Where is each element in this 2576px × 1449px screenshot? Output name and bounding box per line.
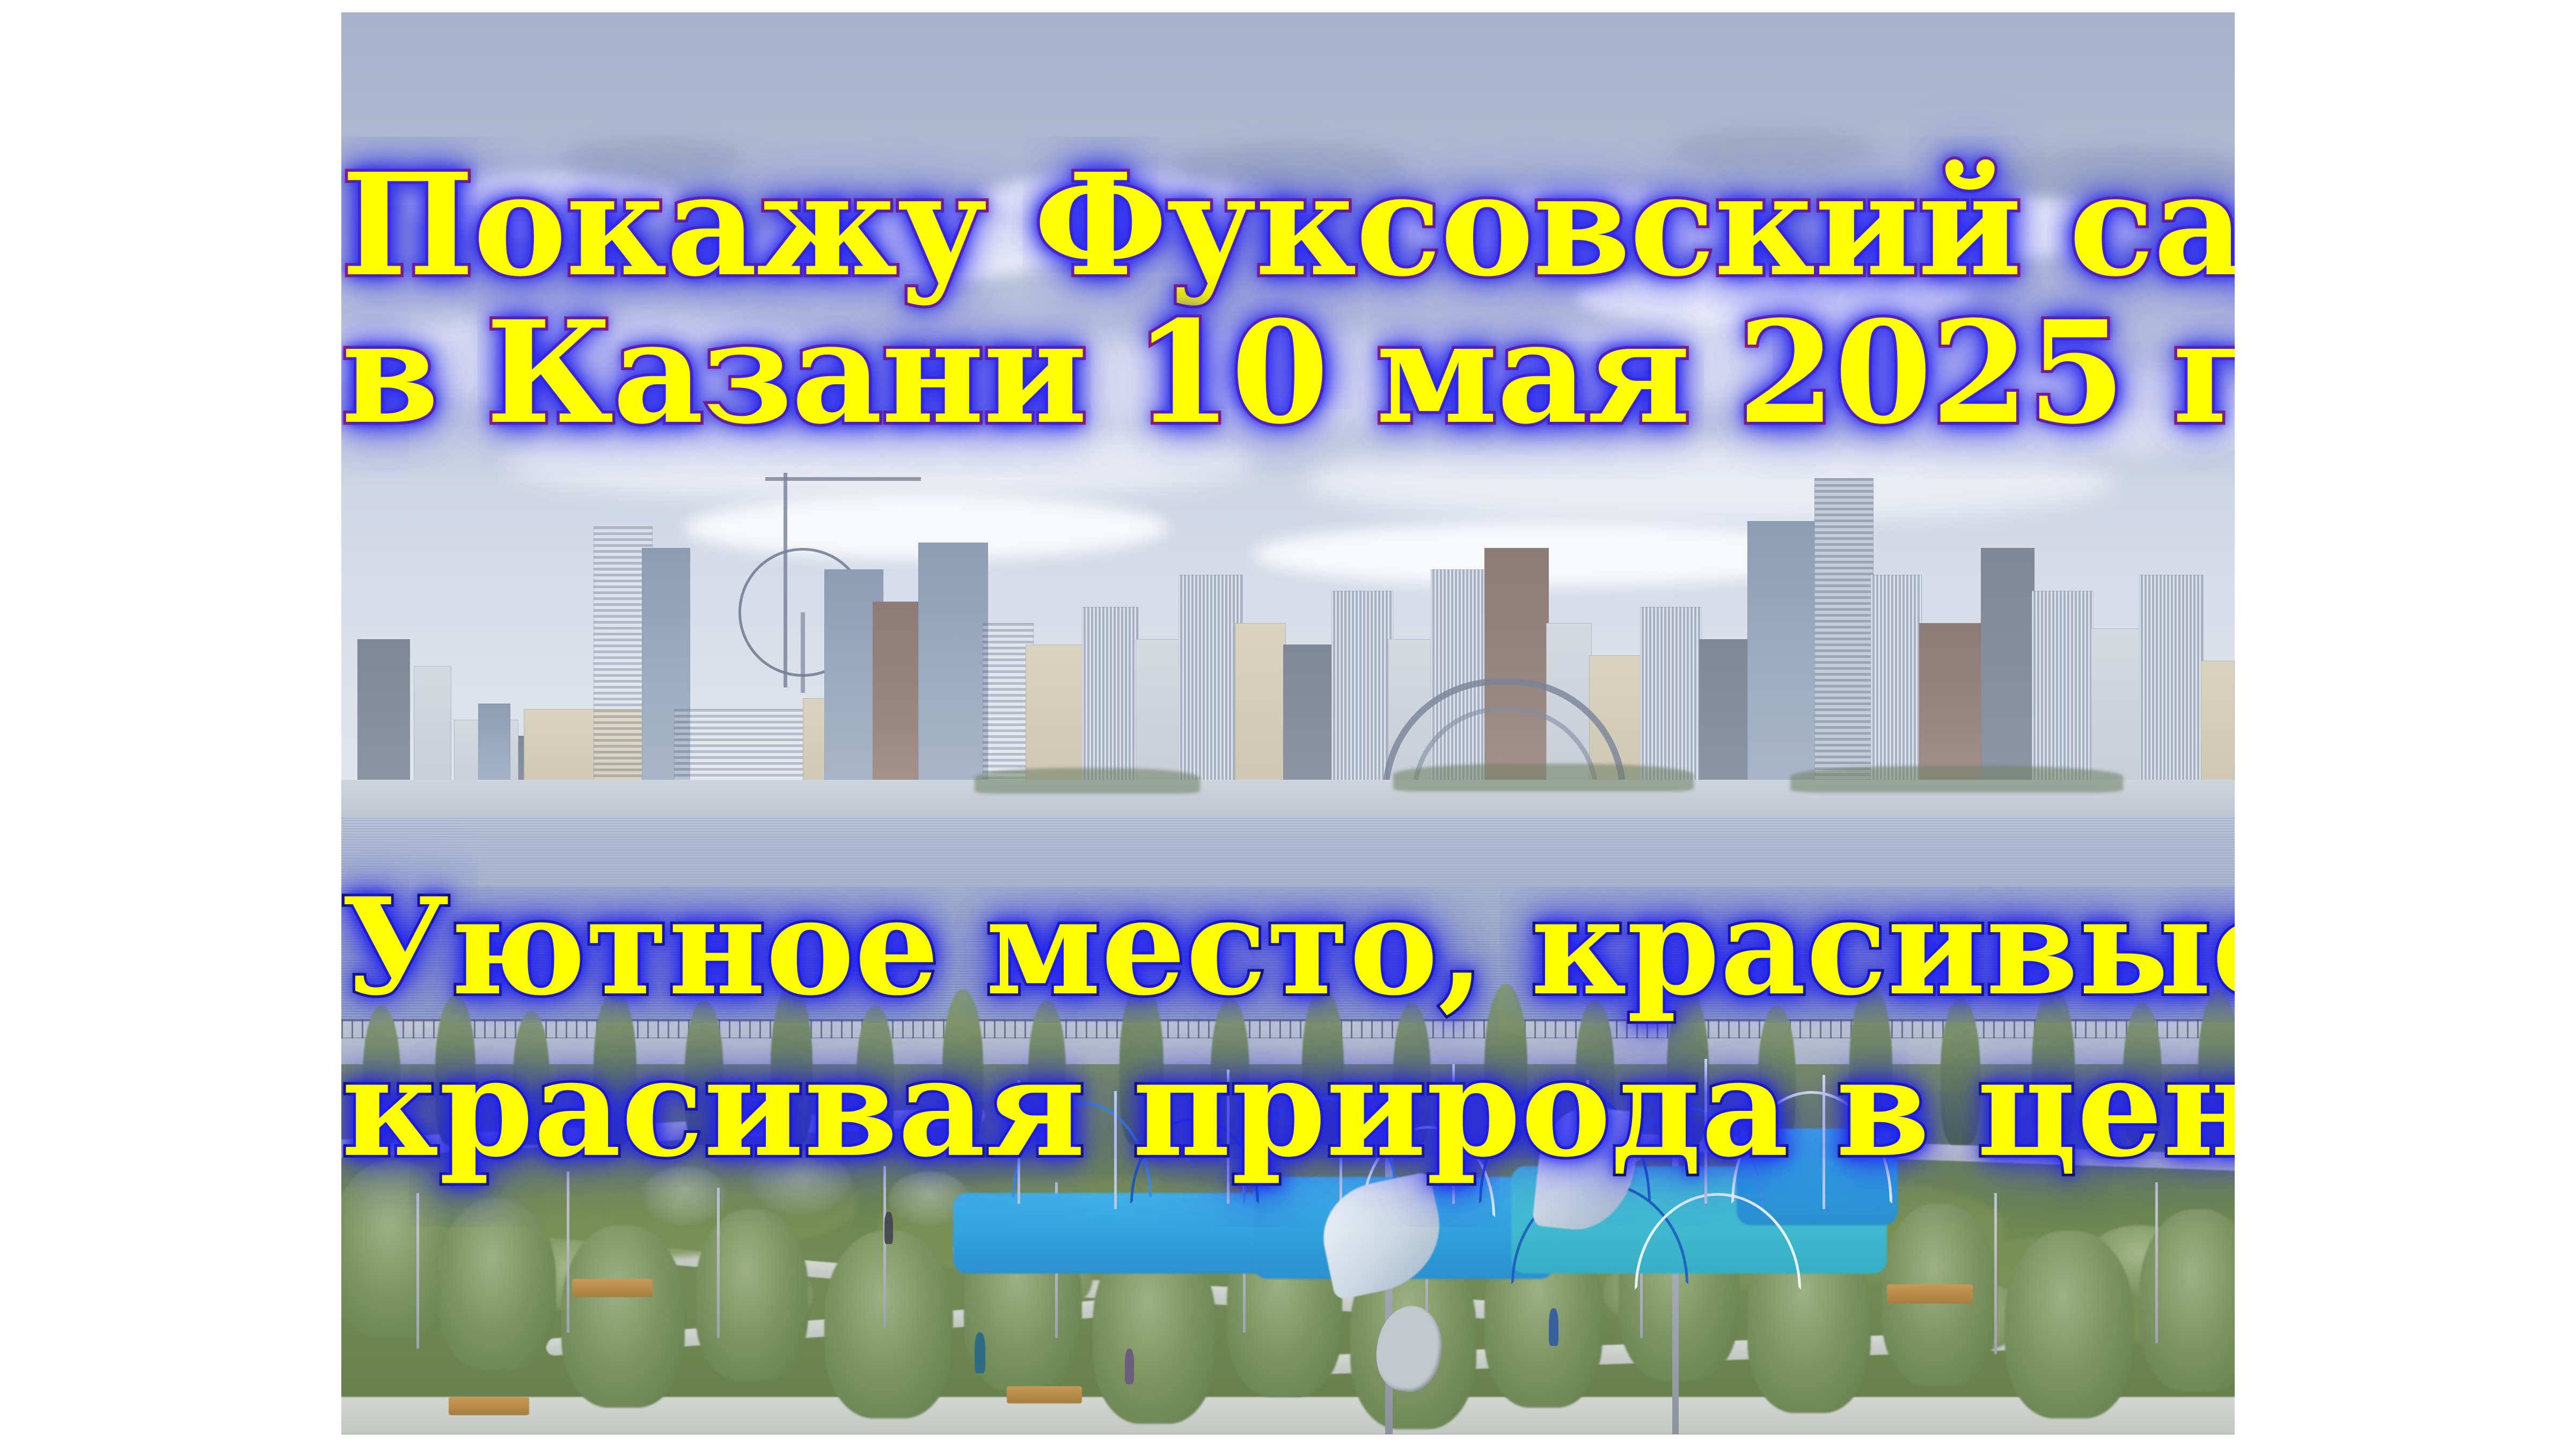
lamp-post <box>883 1166 886 1327</box>
tree <box>696 1209 808 1381</box>
lamp-post <box>717 1188 720 1338</box>
playground-mast <box>1823 1075 1825 1209</box>
tree <box>2139 1209 2235 1392</box>
park-bench <box>1887 1284 1973 1304</box>
person <box>975 1333 985 1373</box>
tree <box>513 1011 550 1145</box>
lamp-post <box>567 1172 569 1333</box>
cloud <box>1672 125 1876 173</box>
person <box>717 1115 726 1146</box>
tree <box>363 1005 400 1145</box>
building <box>2139 575 2204 800</box>
cloud-band <box>341 313 846 404</box>
tree <box>2032 986 2075 1145</box>
building <box>918 543 988 800</box>
building <box>1699 639 1750 800</box>
cloud <box>1576 265 1973 329</box>
cloud-band <box>985 334 1522 426</box>
video-thumbnail-photo: Покажу Фуксовский сад в Казани 10 мая 20… <box>341 12 2235 1435</box>
playground-mast <box>1018 1080 1020 1204</box>
playground-mast <box>1452 1064 1455 1204</box>
bush <box>749 1150 851 1214</box>
lamp-post <box>2155 1182 2158 1343</box>
playground <box>953 1096 1898 1311</box>
park-bench <box>449 1397 529 1415</box>
tree <box>594 989 636 1145</box>
tree <box>435 994 475 1145</box>
screenshot-canvas: Покажу Фуксовский сад в Казани 10 мая 20… <box>0 0 2576 1449</box>
tree <box>771 984 813 1145</box>
park-bench <box>572 1279 653 1297</box>
park-bench <box>1007 1386 1082 1403</box>
playground-mast <box>1227 1070 1230 1204</box>
tree <box>2198 989 2235 1145</box>
building <box>1814 478 1874 800</box>
tree <box>824 1231 953 1418</box>
tree <box>2123 1002 2162 1145</box>
building <box>1747 521 1817 800</box>
person <box>1549 1308 1558 1346</box>
bush <box>642 1166 728 1225</box>
building <box>357 639 410 800</box>
cloud <box>1179 141 1404 189</box>
city-skyline <box>341 467 2235 800</box>
climbing-net <box>1130 1118 1259 1204</box>
cloud <box>567 136 744 179</box>
playground-equipment <box>1747 1113 1777 1155</box>
cloud <box>1382 189 1758 259</box>
construction-crane <box>784 473 787 687</box>
building <box>1283 645 1337 800</box>
cloud <box>406 173 685 238</box>
waterfront-trees <box>975 768 1200 794</box>
tree <box>1941 997 1980 1145</box>
lamp-post <box>1994 1193 1997 1354</box>
building <box>1179 575 1243 800</box>
playground-surface <box>953 1193 1297 1274</box>
playground-mast <box>1704 1059 1707 1204</box>
tree <box>857 1005 894 1145</box>
playground-mast <box>1340 1086 1342 1209</box>
climbing-net <box>1012 1102 1152 1198</box>
building <box>2201 661 2235 800</box>
lamp-post <box>416 1193 419 1349</box>
tree <box>561 1225 685 1408</box>
tree <box>438 1198 556 1370</box>
tree <box>2005 1231 2134 1418</box>
person <box>1125 1349 1134 1384</box>
cloud <box>1812 195 2145 259</box>
waterfront-trees <box>1790 766 2123 793</box>
building <box>1331 591 1393 800</box>
building <box>1235 623 1286 800</box>
building <box>1981 548 2035 800</box>
playground-mast <box>1114 1091 1117 1209</box>
waterfront-trees <box>1393 764 1694 792</box>
construction-crane <box>765 477 921 481</box>
person <box>884 1212 893 1244</box>
